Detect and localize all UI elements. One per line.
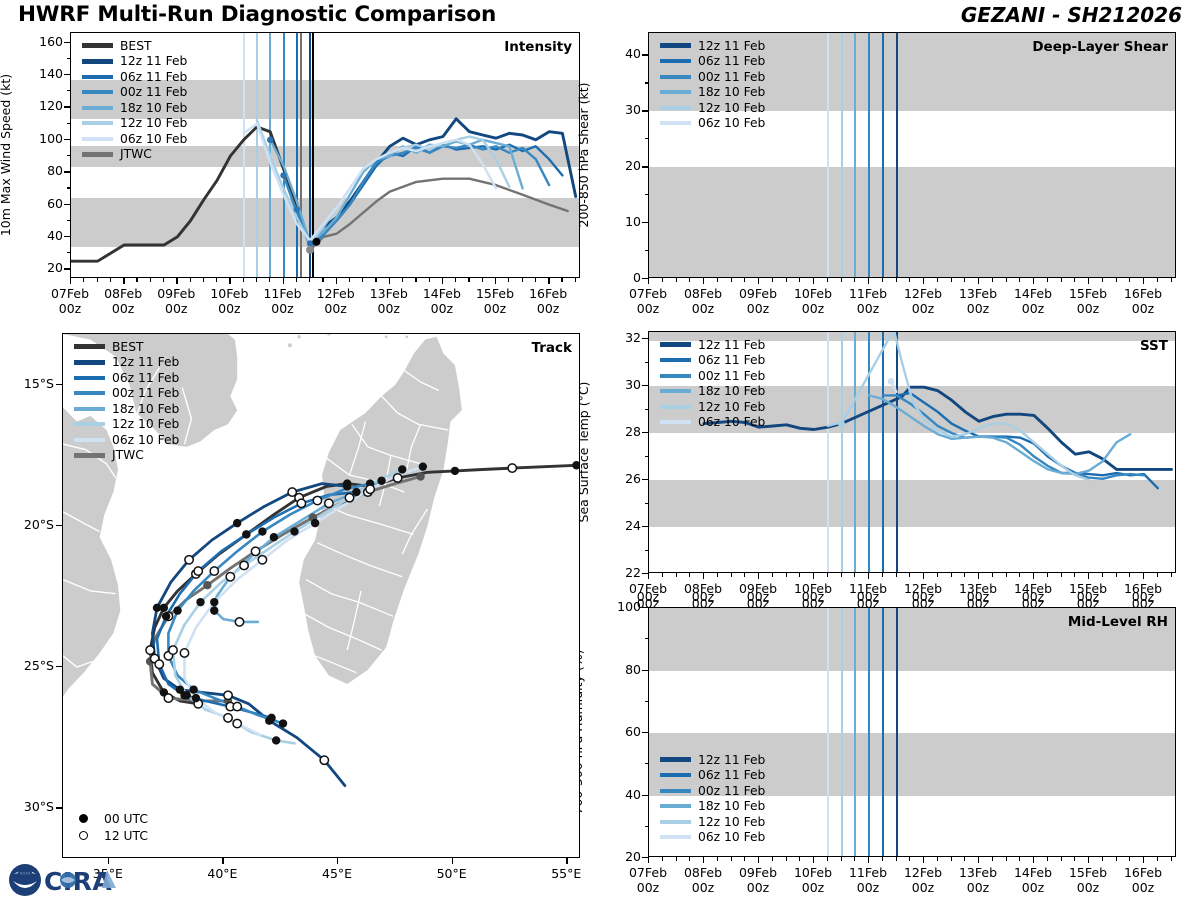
x-tick-mark: [648, 278, 649, 284]
x-tick-mark: [337, 858, 338, 864]
reference-time-line: [300, 33, 302, 277]
track-y-tick-label: 30°S: [4, 799, 54, 814]
legend-label: 06z 10 Feb: [698, 116, 765, 130]
legend-item[interactable]: 06z 10 Feb: [660, 830, 765, 846]
sst-panel-title: SST: [1140, 338, 1168, 354]
shear-plot-area: [648, 32, 1176, 278]
y-minor-tick: [645, 409, 649, 410]
x-tick-hour: 00z: [747, 301, 769, 316]
track-marker-00utc: [180, 691, 188, 699]
x-minor-tick: [662, 857, 663, 861]
y-minor-tick: [645, 456, 649, 457]
legend-color-swatch: [660, 773, 691, 777]
legend-color-swatch: [82, 90, 113, 94]
page-header: HWRF Multi-Run Diagnostic Comparison GEZ…: [0, 0, 1200, 30]
init-time-line: [827, 332, 829, 572]
track-marker-12utc: [240, 561, 248, 569]
track-marker-12utc: [224, 714, 232, 722]
shear-y-tick-label: 0: [601, 270, 641, 285]
legend-label: 00z 11 Feb: [112, 386, 179, 400]
x-tick-hour: 00z: [637, 301, 659, 316]
x-tick-day: 07Feb: [629, 581, 667, 596]
x-tick-mark: [1033, 573, 1034, 579]
track-marker-00utc: [196, 598, 204, 606]
y-minor-tick: [67, 252, 71, 253]
x-minor-tick: [676, 573, 677, 577]
track-line: [150, 465, 576, 704]
x-tick-hour: 00z: [967, 880, 989, 895]
x-minor-tick: [964, 278, 965, 282]
x-tick-mark: [70, 278, 71, 284]
x-tick-mark: [923, 278, 924, 284]
x-minor-tick: [1157, 573, 1158, 577]
x-minor-tick: [731, 278, 732, 282]
y-minor-tick: [67, 187, 71, 188]
legend-item[interactable]: BEST: [74, 339, 179, 355]
series-marker: [312, 238, 320, 246]
y-tick-mark: [642, 54, 648, 55]
x-tick-hour: 00z: [1022, 596, 1044, 611]
africa-landmass-south: [62, 407, 120, 858]
track-marker-12utc: [233, 719, 241, 727]
x-top-hour-label: 00z: [938, 589, 1018, 604]
x-tick-label: 15Feb00z: [1048, 865, 1128, 895]
legend-item[interactable]: 06z 10 Feb: [660, 415, 765, 431]
track-map-area[interactable]: [62, 333, 580, 858]
legend-label: 00z 11 Feb: [698, 784, 765, 798]
track-marker-00utc: [242, 530, 250, 538]
legend-item[interactable]: 06z 10 Feb: [82, 131, 187, 147]
x-minor-tick: [786, 573, 787, 577]
series-line: [891, 381, 897, 392]
intensity-y-tick-label: 160: [23, 34, 63, 49]
legend-item[interactable]: 06z 11 Feb: [660, 54, 765, 70]
y-minor-tick: [645, 701, 649, 702]
shaded-band: [649, 733, 1175, 796]
init-time-line: [827, 33, 829, 277]
legend-item[interactable]: 06z 11 Feb: [660, 768, 765, 784]
legend-item[interactable]: 06z 11 Feb: [82, 69, 187, 85]
x-tick-label: 08Feb00z: [663, 865, 743, 895]
x-tick-hour: 00z: [1077, 301, 1099, 316]
x-tick-day: 08Feb: [104, 286, 142, 301]
track-marker-12utc: [251, 547, 259, 555]
legend-item[interactable]: 18z 10 Feb: [660, 85, 765, 101]
x-tick-label: 14Feb00z: [993, 581, 1073, 611]
intensity-y-tick-label: 120: [23, 98, 63, 113]
x-tick-hour: 00z: [218, 301, 240, 316]
legend-label: 00z 11 Feb: [698, 369, 765, 383]
legend-item[interactable]: 12z 10 Feb: [82, 116, 187, 132]
intensity-y-tick-label: 140: [23, 66, 63, 81]
x-minor-tick: [1171, 857, 1172, 861]
intensity-panel: 2040608010012014016010m Max Wind Speed (…: [0, 0, 1200, 900]
rh-legend: 12z 11 Feb06z 11 Feb00z 11 Feb18z 10 Feb…: [660, 752, 765, 845]
x-minor-tick: [799, 278, 800, 282]
island: [297, 335, 300, 338]
legend-color-swatch: [660, 420, 691, 424]
x-minor-tick: [827, 278, 828, 282]
x-tick-label: 15Feb00z: [455, 286, 535, 316]
track-marker-00utc: [189, 685, 197, 693]
track-marker-00utc: [270, 533, 278, 541]
track-marker-12utc: [164, 652, 172, 660]
legend-item[interactable]: BEST: [82, 38, 187, 54]
x-tick-label: 12Feb00z: [883, 286, 963, 316]
track-marker-00utc: [203, 581, 211, 589]
legend-label: 18z 10 Feb: [120, 101, 187, 115]
x-minor-tick: [951, 278, 952, 282]
cira-wordmark: CIRA: [44, 867, 116, 896]
admin-border: [402, 509, 427, 554]
y-tick-mark: [642, 166, 648, 167]
legend-item[interactable]: 12z 10 Feb: [660, 814, 765, 830]
legend-color-swatch: [74, 438, 105, 442]
legend-item[interactable]: 12z 11 Feb: [660, 752, 765, 768]
x-tick-label: 14Feb00z: [993, 865, 1073, 895]
track-marker-00utc: [160, 604, 168, 612]
x-minor-tick: [909, 573, 910, 577]
sst-y-tick-label: 32: [601, 330, 641, 345]
y-tick-mark: [642, 432, 648, 433]
legend-item[interactable]: 12z 11 Feb: [660, 337, 765, 353]
shear-panel: 010203040200-850 hPa Shear (kt)07Feb00z0…: [0, 0, 1200, 900]
track-marker-00utc: [416, 472, 424, 480]
x-tick-hour: 00z: [747, 880, 769, 895]
x-tick-mark: [336, 278, 337, 284]
y-tick-mark: [642, 278, 648, 279]
x-minor-tick: [689, 573, 690, 577]
x-minor-tick: [786, 857, 787, 861]
x-tick-day: 11Feb: [849, 286, 887, 301]
shaded-band: [649, 167, 1175, 278]
track-x-tick-label: 50°E: [412, 866, 492, 881]
x-tick-hour: 00z: [637, 596, 659, 611]
legend-item[interactable]: 18z 10 Feb: [660, 799, 765, 815]
legend-color-swatch: [660, 106, 691, 110]
y-minor-tick: [67, 90, 71, 91]
x-tick-label: 09Feb00z: [718, 865, 798, 895]
legend-label: 18z 10 Feb: [698, 85, 765, 99]
init-time-line: [896, 33, 898, 277]
x-tick-label: 13Feb00z: [938, 865, 1018, 895]
track-marker-12utc: [150, 654, 158, 662]
svg-text:NOAA: NOAA: [20, 872, 31, 876]
legend-color-swatch: [660, 43, 691, 48]
x-minor-tick: [964, 573, 965, 577]
series-line: [704, 387, 1172, 469]
legend-color-swatch: [82, 43, 113, 48]
open-circle-icon: [79, 831, 88, 840]
x-tick-hour: 00z: [112, 301, 134, 316]
x-minor-tick: [951, 857, 952, 861]
admin-border: [62, 707, 63, 735]
legend-color-swatch: [82, 106, 113, 110]
admin-border: [304, 613, 382, 650]
x-tick-hour: 00z: [1132, 596, 1154, 611]
admin-border: [350, 422, 366, 476]
y-minor-tick: [67, 123, 71, 124]
svg-text:CIRA: CIRA: [44, 867, 112, 896]
x-minor-tick: [455, 278, 456, 282]
x-top-hour-label: 00z: [993, 589, 1073, 604]
island: [288, 343, 292, 347]
legend-color-swatch: [82, 59, 113, 64]
track-marker-00utc: [192, 694, 200, 702]
x-top-hour-label: 00z: [1048, 589, 1128, 604]
x-top-hour-label: 00z: [828, 589, 908, 604]
x-tick-day: 11Feb: [849, 865, 887, 880]
shear-y-tick-label: 30: [601, 102, 641, 117]
island: [224, 352, 227, 355]
x-minor-tick: [1171, 573, 1172, 577]
x-tick-label: 07Feb00z: [608, 581, 688, 611]
init-time-line: [841, 332, 843, 572]
sst-y-tick-label: 30: [601, 377, 641, 392]
series-line: [297, 145, 563, 245]
legend-label: 12z 11 Feb: [698, 338, 765, 352]
x-tick-label: 07Feb00z: [608, 865, 688, 895]
track-marker-12utc: [224, 691, 232, 699]
track-marker-12utc: [297, 499, 305, 507]
legend-item[interactable]: 12z 10 Feb: [74, 417, 179, 433]
legend-color-swatch: [74, 407, 105, 411]
x-minor-tick: [402, 278, 403, 282]
rh-y-tick-label: 20: [601, 849, 641, 864]
x-minor-tick: [296, 278, 297, 282]
track-marker-00utc: [210, 606, 218, 614]
legend-item[interactable]: 06z 10 Feb: [660, 116, 765, 132]
x-tick-day: 10Feb: [794, 286, 832, 301]
x-minor-tick: [772, 857, 773, 861]
x-tick-mark: [1088, 573, 1089, 579]
y-tick-mark: [642, 573, 648, 574]
y-minor-tick: [645, 826, 649, 827]
x-tick-day: 09Feb: [739, 286, 777, 301]
x-tick-day: 16Feb: [1124, 286, 1162, 301]
x-minor-tick: [429, 278, 430, 282]
rh-y-tick-label: 40: [601, 787, 641, 802]
x-minor-tick: [937, 573, 938, 577]
x-minor-tick: [1157, 857, 1158, 861]
y-tick-mark: [64, 204, 70, 205]
x-tick-day: 14Feb: [423, 286, 461, 301]
x-tick-mark: [452, 858, 453, 864]
track-marker-12utc: [226, 702, 234, 710]
legend-color-swatch: [74, 360, 105, 365]
track-marker-00utc: [162, 612, 170, 620]
legend-item[interactable]: 00z 11 Feb: [660, 368, 765, 384]
track-marker-00utc: [419, 462, 427, 470]
init-time-line: [256, 33, 258, 277]
shaded-band: [71, 80, 579, 119]
legend-item[interactable]: 12z 10 Feb: [660, 399, 765, 415]
legend-color-swatch: [660, 789, 691, 793]
x-minor-tick: [1047, 278, 1048, 282]
x-tick-hour: 00z: [1132, 880, 1154, 895]
legend-item[interactable]: 12z 11 Feb: [660, 38, 765, 54]
legend-item[interactable]: 06z 10 Feb: [74, 432, 179, 448]
legend-label: 12z 11 Feb: [698, 753, 765, 767]
x-minor-tick: [841, 278, 842, 282]
init-time-line: [841, 608, 843, 856]
shear-y-tick-label: 10: [601, 214, 641, 229]
x-tick-hour: 00z: [802, 301, 824, 316]
legend-label: 06z 11 Feb: [112, 371, 179, 385]
legend-item[interactable]: 00z 11 Feb: [82, 85, 187, 101]
x-minor-tick: [717, 278, 718, 282]
legend-item[interactable]: 18z 10 Feb: [74, 401, 179, 417]
legend-color-swatch: [74, 376, 105, 380]
shear-legend: 12z 11 Feb06z 11 Feb00z 11 Feb18z 10 Feb…: [660, 38, 765, 131]
admin-border: [379, 455, 391, 506]
admin-border: [322, 503, 414, 534]
x-minor-tick: [964, 857, 965, 861]
x-minor-tick: [83, 278, 84, 282]
x-minor-tick: [717, 857, 718, 861]
series-line: [284, 145, 550, 247]
x-minor-tick: [992, 573, 993, 577]
x-tick-mark: [868, 278, 869, 284]
x-minor-tick: [799, 857, 800, 861]
x-minor-tick: [216, 278, 217, 282]
x-minor-tick: [717, 573, 718, 577]
legend-label: JTWC: [120, 147, 152, 161]
x-minor-tick: [1102, 573, 1103, 577]
track-marker-12utc: [313, 496, 321, 504]
x-minor-tick: [1157, 278, 1158, 282]
x-tick-day: 09Feb: [157, 286, 195, 301]
x-minor-tick: [896, 857, 897, 861]
track-marker-12utc: [320, 756, 328, 764]
y-minor-tick: [645, 503, 649, 504]
track-marker-12utc: [164, 694, 172, 702]
x-tick-day: 16Feb: [1124, 581, 1162, 596]
africa-landmass-north: [63, 334, 237, 447]
x-tick-day: 10Feb: [794, 865, 832, 880]
legend-color-swatch: [74, 422, 105, 426]
series-line: [310, 119, 576, 244]
legend-label: 06z 11 Feb: [698, 54, 765, 68]
track-marker-00utc: [290, 527, 298, 535]
legend-item[interactable]: 00z 11 Feb: [660, 69, 765, 85]
legend-color-swatch: [74, 344, 105, 349]
x-minor-tick: [1129, 857, 1130, 861]
track-marker-00utc: [265, 716, 273, 724]
legend-item[interactable]: 18z 10 Feb: [82, 100, 187, 116]
x-minor-tick: [1006, 857, 1007, 861]
x-tick-mark: [1143, 857, 1144, 863]
track-x-tick-label: 55°E: [526, 866, 606, 881]
legend-color-swatch: [82, 152, 113, 157]
legend-item[interactable]: 00z 11 Feb: [660, 783, 765, 799]
y-tick-mark: [642, 670, 648, 671]
shaded-band: [649, 480, 1175, 527]
legend-item[interactable]: 12z 11 Feb: [82, 54, 187, 70]
x-tick-mark: [813, 278, 814, 284]
x-minor-tick: [1047, 573, 1048, 577]
x-tick-hour: 00z: [747, 596, 769, 611]
track-panel: 15°S20°S25°S30°S35°E40°E45°E50°E55°ETrac…: [0, 0, 1200, 900]
x-tick-day: 07Feb: [51, 286, 89, 301]
x-tick-label: 15Feb00z: [1048, 286, 1128, 316]
sst-plot-area: [648, 331, 1176, 573]
track-x-tick-label: 40°E: [182, 866, 262, 881]
series-line: [869, 395, 1130, 474]
sst-y-tick-label: 28: [601, 424, 641, 439]
track-marker-12utc: [226, 573, 234, 581]
x-minor-tick: [1074, 857, 1075, 861]
x-minor-tick: [744, 573, 745, 577]
legend-item[interactable]: 06z 11 Feb: [660, 353, 765, 369]
x-tick-label: 16Feb00z: [1103, 581, 1183, 611]
rh-y-tick-label: 60: [601, 724, 641, 739]
track-marker-00utc: [272, 736, 280, 744]
legend-label: 06z 11 Feb: [120, 70, 187, 84]
x-minor-tick: [482, 278, 483, 282]
legend-label: 12z 10 Feb: [120, 116, 187, 130]
track-marker-legend: 00 UTC12 UTC: [70, 810, 148, 844]
track-marker-12utc: [180, 649, 188, 657]
x-tick-hour: 00z: [802, 596, 824, 611]
legend-item[interactable]: 18z 10 Feb: [660, 384, 765, 400]
x-minor-tick: [937, 278, 938, 282]
x-tick-mark: [648, 573, 649, 579]
x-minor-tick: [827, 573, 828, 577]
y-tick-mark: [642, 732, 648, 733]
island: [385, 335, 388, 338]
legend-item[interactable]: 12z 11 Feb: [74, 355, 179, 371]
legend-color-swatch: [74, 453, 105, 458]
rh-panel: 20406080100700-500 hPa Humidity (%)07Feb…: [0, 0, 1200, 900]
track-line: [214, 481, 381, 622]
legend-label: 12z 11 Feb: [112, 355, 179, 369]
x-tick-mark: [389, 278, 390, 284]
shear-y-tick-label: 20: [601, 158, 641, 173]
x-tick-mark: [978, 573, 979, 579]
legend-item[interactable]: 06z 11 Feb: [74, 370, 179, 386]
track-line: [185, 467, 423, 735]
x-minor-tick: [1061, 278, 1062, 282]
legend-item[interactable]: JTWC: [74, 448, 179, 464]
x-minor-tick: [676, 857, 677, 861]
x-tick-day: 16Feb: [1124, 865, 1162, 880]
filled-circle-icon: [79, 814, 88, 823]
track-marker-12utc: [508, 464, 516, 472]
x-tick-label: 12Feb00z: [296, 286, 376, 316]
track-marker-00utc: [173, 606, 181, 614]
x-minor-tick: [1171, 278, 1172, 282]
legend-label: 00z 11 Feb: [120, 85, 187, 99]
admin-border: [317, 543, 402, 577]
x-minor-tick: [676, 278, 677, 282]
legend-item[interactable]: JTWC: [82, 147, 187, 163]
sst-y-tick-label: 22: [601, 565, 641, 580]
init-time-line: [854, 332, 856, 572]
x-tick-day: 13Feb: [370, 286, 408, 301]
series-line: [71, 127, 315, 261]
legend-item[interactable]: 00z 11 Feb: [74, 386, 179, 402]
init-time-line: [868, 332, 870, 572]
island: [327, 333, 330, 336]
admin-border: [136, 368, 159, 416]
x-tick-label: 13Feb00z: [938, 581, 1018, 611]
track-marker-12utc: [364, 488, 372, 496]
legend-item[interactable]: 12z 10 Feb: [660, 100, 765, 116]
y-minor-tick: [67, 155, 71, 156]
legend-color-swatch: [82, 75, 113, 79]
y-minor-tick: [645, 82, 649, 83]
